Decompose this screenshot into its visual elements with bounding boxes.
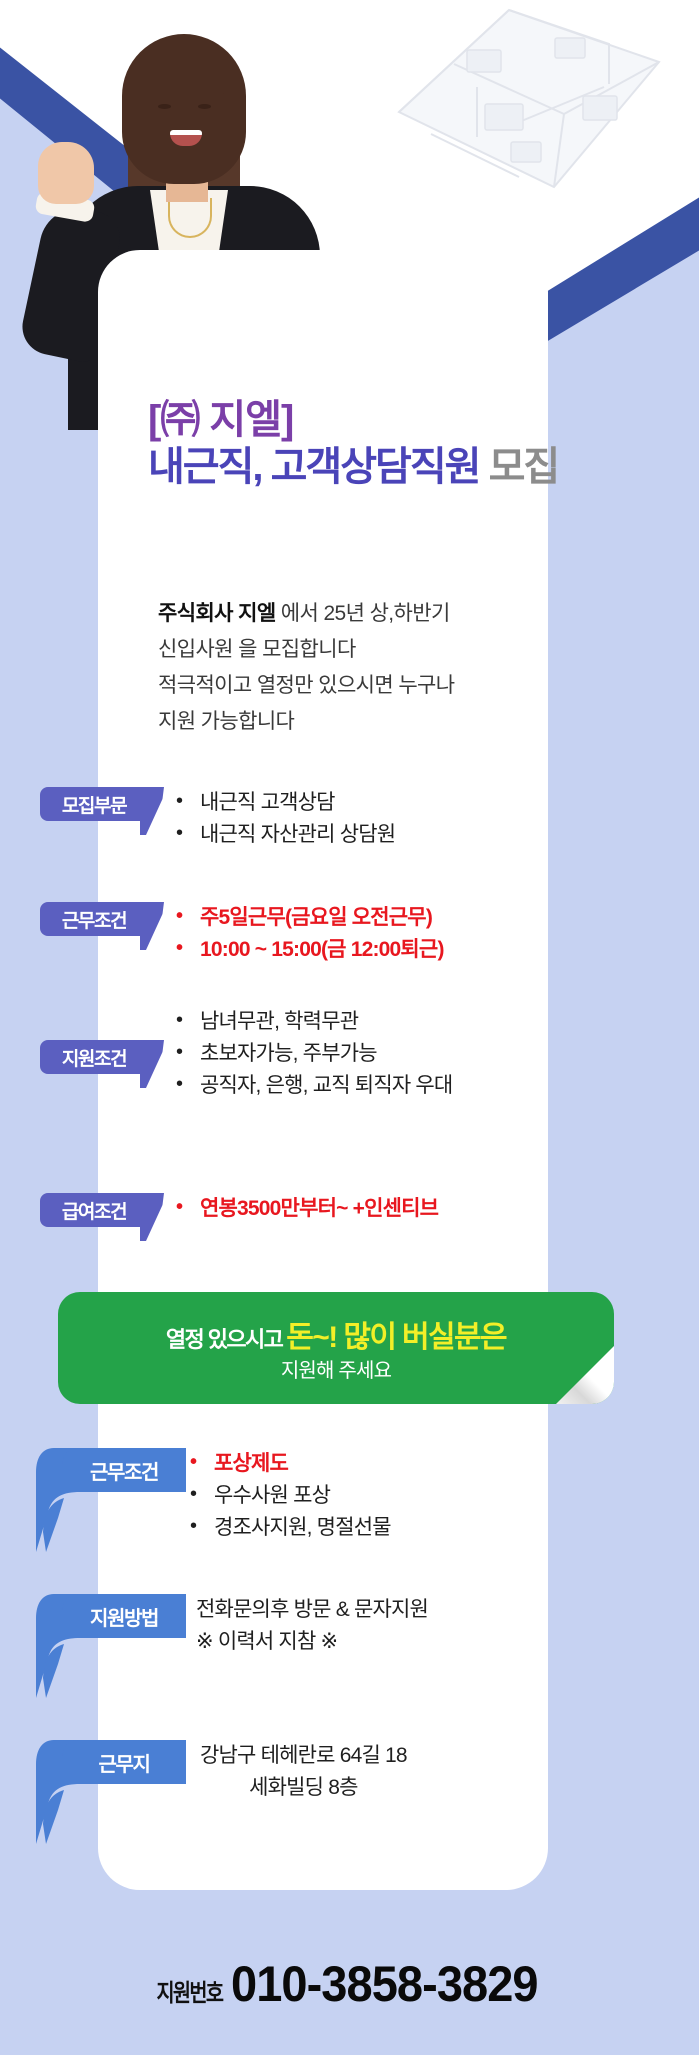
- badge-apply-method-label: 지원방법: [90, 1602, 158, 1631]
- badge-workplace-label: 근무지: [99, 1748, 150, 1777]
- section-workplace: 근무지 강남구 테헤란로 64길 18 세화빌딩 8층: [34, 1740, 407, 1803]
- list-item: 포상제도: [190, 1448, 391, 1480]
- green-banner-small-text: 열정 있으시고: [166, 1327, 282, 1352]
- list-benefits: 포상제도 우수사원 포상 경조사지원, 명절선물: [190, 1448, 391, 1544]
- badge-benefits: 근무조건: [62, 1448, 186, 1492]
- list-recruit-field: 내근직 고객상담 내근직 자산관리 상담원: [176, 787, 395, 851]
- section-work-conditions: 근무조건 주5일근무(금요일 오전근무) 10:00 ~ 15:00(금 12:…: [40, 902, 444, 966]
- list-item: 경조사지원, 명절선물: [190, 1512, 391, 1544]
- list-apply-requirements: 남녀무관, 학력무관 초보자가능, 주부가능 공직자, 은행, 교직 퇴직자 우…: [176, 1006, 452, 1102]
- intro-line-3: 적극적이고 열정만 있으시면 누구나: [158, 668, 558, 704]
- list-item: 10:00 ~ 15:00(금 12:00퇴근): [176, 934, 444, 966]
- title-role: 내근직, 고객상담직원 모집: [148, 444, 568, 490]
- intro-company-name: 주식회사 지엘: [158, 602, 276, 625]
- section-apply-requirements: 지원조건 남녀무관, 학력무관 초보자가능, 주부가능 공직자, 은행, 교직 …: [40, 1006, 452, 1102]
- badge-workplace: 근무지: [62, 1740, 186, 1784]
- footer-contact: 지원번호 010-3858-3829: [0, 1955, 699, 2013]
- badge-benefits-label: 근무조건: [90, 1456, 158, 1485]
- green-callout-banner: 열정 있으시고돈~! 많이 버실분은 지원해 주세요: [58, 1292, 614, 1404]
- green-banner-subtext: 지원해 주세요: [58, 1354, 614, 1383]
- text-line: 세화빌딩 8층: [200, 1772, 407, 1804]
- list-item: 주5일근무(금요일 오전근무): [176, 902, 444, 934]
- title-company: [㈜ 지엘]: [148, 398, 568, 442]
- text-line: ※ 이력서 지참 ※: [196, 1626, 428, 1658]
- list-item: 우수사원 포상: [190, 1480, 391, 1512]
- section-benefits: 근무조건 포상제도 우수사원 포상 경조사지원, 명절선물: [34, 1448, 391, 1544]
- badge-apply-requirements: 지원조건: [40, 1040, 148, 1074]
- badge-work-conditions: 근무조건: [40, 902, 148, 936]
- badge-apply-requirements-label: 지원조건: [62, 1044, 126, 1071]
- badge-benefits-wrap: 근무조건: [34, 1448, 186, 1492]
- badge-salary: 급여조건: [40, 1193, 148, 1227]
- intro-line-4: 지원 가능합니다: [158, 704, 558, 740]
- floorplan-illustration: [359, 0, 689, 227]
- footer-phone-number[interactable]: 010-3858-3829: [231, 1955, 538, 2013]
- title-role-suffix: 모집: [489, 445, 559, 489]
- section-recruit-field: 모집부문 내근직 고객상담 내근직 자산관리 상담원: [40, 787, 395, 851]
- badge-workplace-wrap: 근무지: [34, 1740, 186, 1784]
- text-apply-method: 전화문의후 방문 & 문자지원 ※ 이력서 지참 ※: [196, 1594, 428, 1657]
- title-role-main: 내근직, 고객상담직원: [148, 445, 479, 489]
- list-item: 공직자, 은행, 교직 퇴직자 우대: [176, 1070, 452, 1102]
- badge-work-conditions-label: 근무조건: [62, 906, 126, 933]
- text-line: 전화문의후 방문 & 문자지원: [196, 1594, 428, 1626]
- intro-line-2: 신입사원 을 모집합니다: [158, 632, 558, 668]
- intro-line-1-rest: 에서 25년 상,하반기: [276, 602, 450, 625]
- list-item: 초보자가능, 주부가능: [176, 1038, 452, 1070]
- section-apply-method: 지원방법 전화문의후 방문 & 문자지원 ※ 이력서 지참 ※: [34, 1594, 428, 1657]
- badge-apply-method: 지원방법: [62, 1594, 186, 1638]
- footer-label: 지원번호: [157, 1973, 223, 2008]
- list-item: 연봉3500만부터~ +인센티브: [176, 1193, 438, 1225]
- badge-salary-label: 급여조건: [62, 1197, 126, 1224]
- intro-line-1: 주식회사 지엘 에서 25년 상,하반기: [158, 596, 558, 632]
- badge-apply-method-wrap: 지원방법: [34, 1594, 186, 1638]
- text-line: 강남구 테헤란로 64길 18: [200, 1740, 407, 1772]
- list-work-conditions: 주5일근무(금요일 오전근무) 10:00 ~ 15:00(금 12:00퇴근): [176, 902, 444, 966]
- list-salary: 연봉3500만부터~ +인센티브: [176, 1193, 438, 1225]
- green-banner-highlight-text: 돈~! 많이 버실분은: [286, 1321, 506, 1354]
- green-banner-headline: 열정 있으시고돈~! 많이 버실분은: [58, 1312, 614, 1356]
- text-workplace: 강남구 테헤란로 64길 18 세화빌딩 8층: [200, 1740, 407, 1803]
- list-item: 내근직 고객상담: [176, 787, 395, 819]
- badge-recruit-field: 모집부문: [40, 787, 148, 821]
- intro-paragraph: 주식회사 지엘 에서 25년 상,하반기 신입사원 을 모집합니다 적극적이고 …: [158, 596, 558, 740]
- page-title: [㈜ 지엘] 내근직, 고객상담직원 모집: [148, 398, 568, 490]
- list-item: 내근직 자산관리 상담원: [176, 819, 395, 851]
- section-salary: 급여조건 연봉3500만부터~ +인센티브: [40, 1193, 438, 1227]
- job-recruitment-poster: [㈜ 지엘] 내근직, 고객상담직원 모집 주식회사 지엘 에서 25년 상,하…: [0, 0, 699, 2055]
- badge-recruit-field-label: 모집부문: [62, 791, 126, 818]
- list-item: 남녀무관, 학력무관: [176, 1006, 452, 1038]
